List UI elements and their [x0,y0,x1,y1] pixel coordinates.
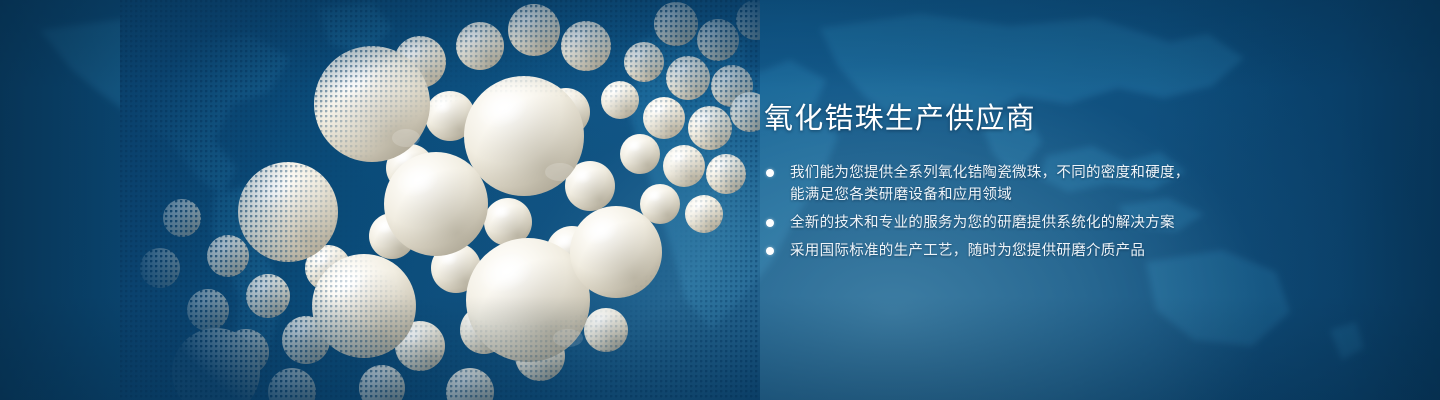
bullet-text-line1: 采用国际标准的生产工艺，随时为您提供研磨介质产品 [790,240,1324,262]
bullet-text-line2: 能满足您各类研磨设备和应用领域 [790,184,1324,206]
hero-banner: 氧化锆珠生产供应商 我们能为您提供全系列氧化锆陶瓷微珠，不同的密度和硬度， 能满… [0,0,1440,400]
bullet-dot-icon [766,219,774,227]
list-item: 我们能为您提供全系列氧化锆陶瓷微珠，不同的密度和硬度， 能满足您各类研磨设备和应… [764,162,1324,206]
banner-bullet-list: 我们能为您提供全系列氧化锆陶瓷微珠，不同的密度和硬度， 能满足您各类研磨设备和应… [764,162,1324,262]
bullet-dot-icon [766,169,774,177]
list-item: 采用国际标准的生产工艺，随时为您提供研磨介质产品 [764,240,1324,262]
list-item: 全新的技术和专业的服务为您的研磨提供系统化的解决方案 [764,212,1324,234]
bullet-text-line1: 全新的技术和专业的服务为您的研磨提供系统化的解决方案 [790,212,1324,234]
bullet-text-line1: 我们能为您提供全系列氧化锆陶瓷微珠，不同的密度和硬度， [790,162,1324,184]
banner-copy: 氧化锆珠生产供应商 我们能为您提供全系列氧化锆陶瓷微珠，不同的密度和硬度， 能满… [764,104,1324,262]
banner-headline: 氧化锆珠生产供应商 [764,104,1324,136]
bullet-dot-icon [766,247,774,255]
